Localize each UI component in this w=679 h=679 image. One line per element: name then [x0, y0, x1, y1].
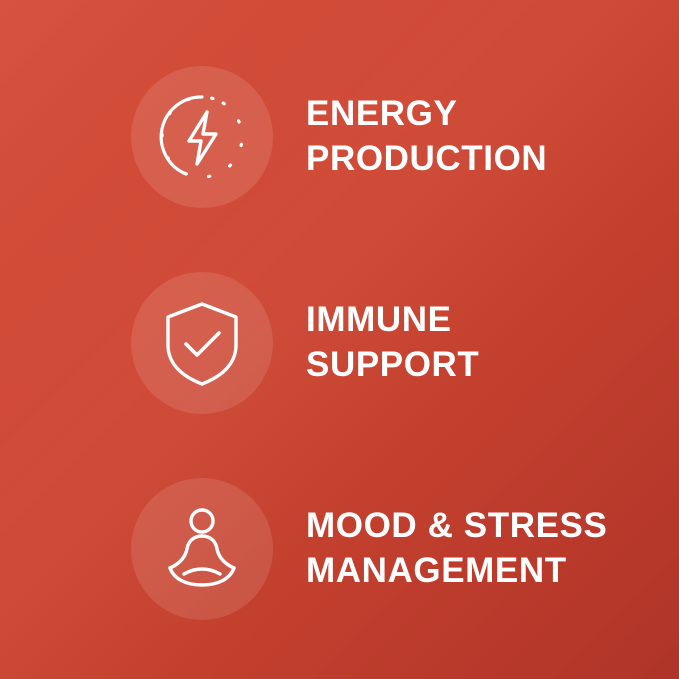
benefit-label-immune: Immune Support [306, 298, 479, 388]
benefit-badge-mood [131, 478, 273, 620]
benefit-badge-immune [131, 272, 273, 414]
meditating-person-icon [150, 497, 254, 601]
benefit-row-mood: Mood & Stress Management [0, 446, 679, 652]
benefit-label-mood: Mood & Stress Management [306, 504, 607, 594]
benefit-label-energy: Energy Production [306, 92, 547, 182]
benefits-list: Energy Production Immune Support [0, 0, 679, 652]
shield-check-icon [150, 291, 254, 395]
lightning-bolt-icon [150, 85, 254, 189]
benefit-row-energy: Energy Production [0, 34, 679, 240]
benefits-poster: Energy Production Immune Support [0, 0, 679, 679]
benefit-row-immune: Immune Support [0, 240, 679, 446]
benefit-badge-energy [131, 66, 273, 208]
